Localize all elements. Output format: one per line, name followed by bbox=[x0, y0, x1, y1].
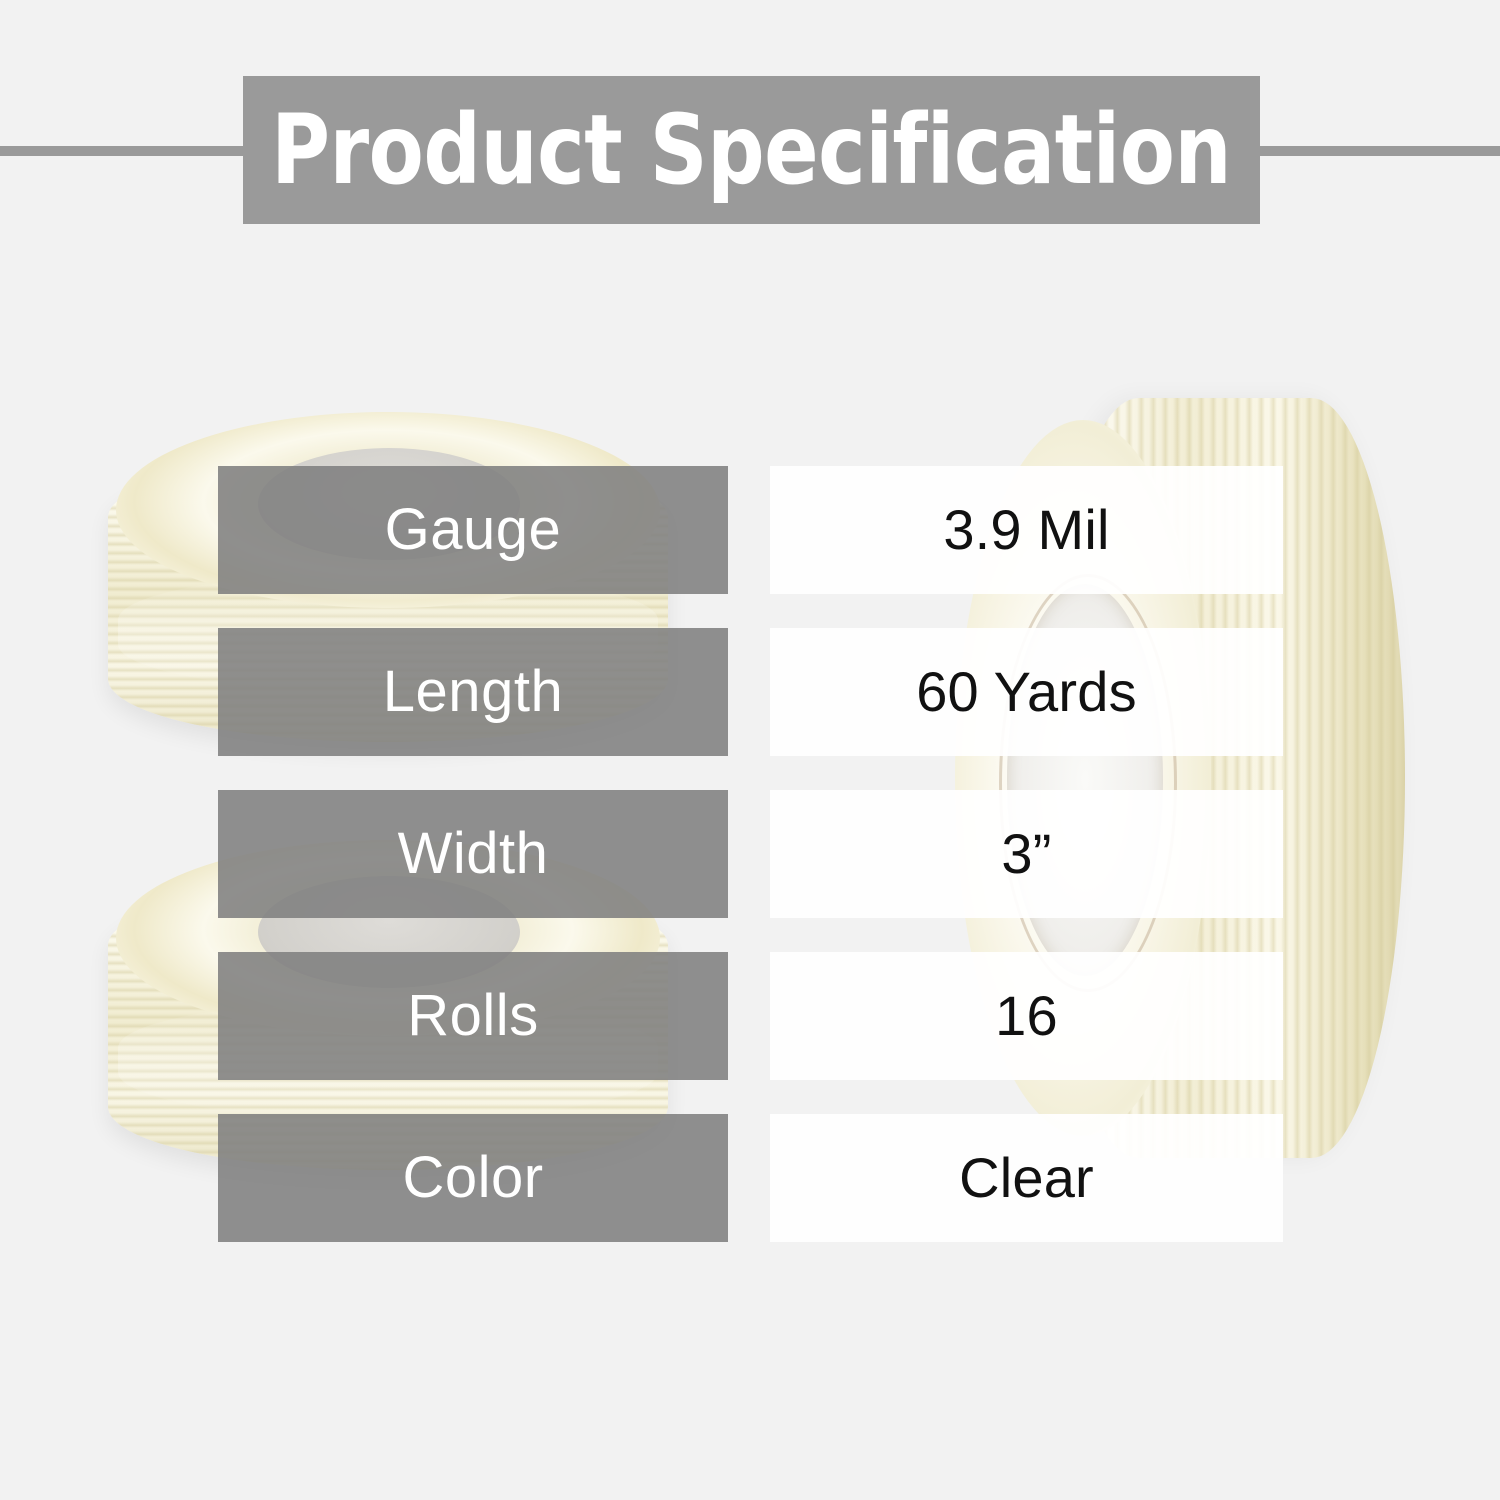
page-title: Product Specification bbox=[271, 102, 1231, 198]
spec-label-text: Color bbox=[402, 1149, 543, 1207]
spec-value-text: Clear bbox=[959, 1150, 1094, 1206]
spec-value-color: Clear bbox=[770, 1114, 1283, 1242]
spec-value-text: 3” bbox=[1001, 826, 1051, 882]
spec-value-text: 3.9 Mil bbox=[943, 502, 1109, 558]
header-rule-left bbox=[0, 146, 250, 156]
spec-label-text: Width bbox=[398, 825, 549, 883]
spec-value-rolls: 16 bbox=[770, 952, 1283, 1080]
product-specification-page: Product Specification Gauge 3.9 Mil Leng… bbox=[0, 0, 1500, 1500]
spec-value-gauge: 3.9 Mil bbox=[770, 466, 1283, 594]
spec-label-length: Length bbox=[218, 628, 728, 756]
spec-label-text: Gauge bbox=[385, 501, 562, 559]
spec-value-width: 3” bbox=[770, 790, 1283, 918]
spec-value-length: 60 Yards bbox=[770, 628, 1283, 756]
spec-label-gauge: Gauge bbox=[218, 466, 728, 594]
title-banner: Product Specification bbox=[243, 76, 1260, 224]
spec-value-text: 60 Yards bbox=[916, 664, 1137, 720]
spec-label-text: Rolls bbox=[407, 987, 538, 1045]
spec-label-color: Color bbox=[218, 1114, 728, 1242]
spec-value-text: 16 bbox=[995, 988, 1058, 1044]
spec-label-width: Width bbox=[218, 790, 728, 918]
spec-label-text: Length bbox=[383, 663, 563, 721]
header-rule-right bbox=[1254, 146, 1500, 156]
spec-label-rolls: Rolls bbox=[218, 952, 728, 1080]
